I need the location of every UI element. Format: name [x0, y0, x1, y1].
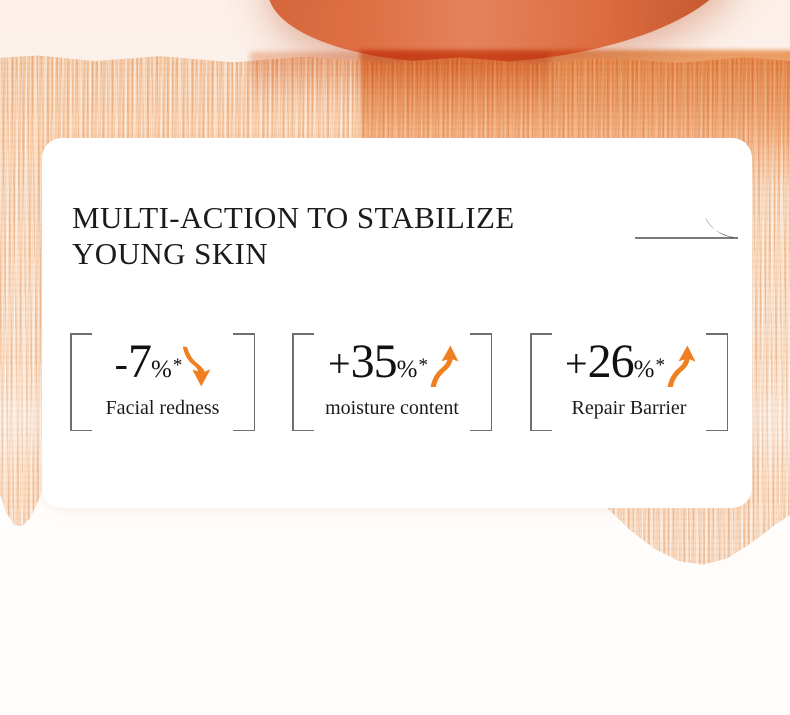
stat-number: 35 — [351, 335, 397, 388]
calligraphic-flourish-icon — [634, 212, 746, 246]
stat-block-moisture-content: +35%* moisture content — [292, 333, 492, 431]
infographic-stage: WH VI N MULTI-ACTION TO STABILIZE YOUNG … — [0, 0, 790, 715]
stat-percent: % — [151, 356, 172, 383]
stat-footnote-marker: * — [418, 355, 428, 376]
arrow-up-curved-icon — [665, 345, 697, 389]
stat-footnote-marker: * — [655, 355, 665, 376]
statistics-row: -7%* Facial redness +35%* — [70, 333, 730, 433]
stat-sign: - — [115, 341, 128, 386]
stat-label: Facial redness — [70, 397, 255, 420]
headline-line-2: YOUNG SKIN — [72, 236, 672, 272]
stat-label: moisture content — [292, 397, 492, 420]
stat-percent: % — [397, 356, 418, 383]
headline-line-1: MULTI-ACTION TO STABILIZE — [72, 200, 672, 236]
content-card: MULTI-ACTION TO STABILIZE YOUNG SKIN -7%… — [42, 138, 752, 508]
stat-value-group: +35%* — [292, 337, 494, 398]
stat-percent: % — [634, 356, 655, 383]
stat-number: 26 — [588, 335, 634, 388]
stat-sign: + — [565, 341, 588, 386]
arrow-down-curved-icon — [182, 345, 214, 389]
bottle-glow-shadow-secondary — [250, 52, 550, 122]
stat-footnote-marker: * — [173, 355, 183, 376]
arrow-up-curved-icon — [428, 345, 460, 389]
stat-block-repair-barrier: +26%* Repair Barrier — [530, 333, 728, 431]
page-title: MULTI-ACTION TO STABILIZE YOUNG SKIN — [72, 200, 672, 272]
stat-value-group: +26%* — [530, 337, 730, 398]
stat-number: 7 — [128, 335, 151, 388]
stat-block-facial-redness: -7%* Facial redness — [70, 333, 255, 431]
stat-value-group: -7%* — [70, 337, 257, 398]
stat-label: Repair Barrier — [530, 397, 728, 420]
stat-sign: + — [328, 341, 351, 386]
